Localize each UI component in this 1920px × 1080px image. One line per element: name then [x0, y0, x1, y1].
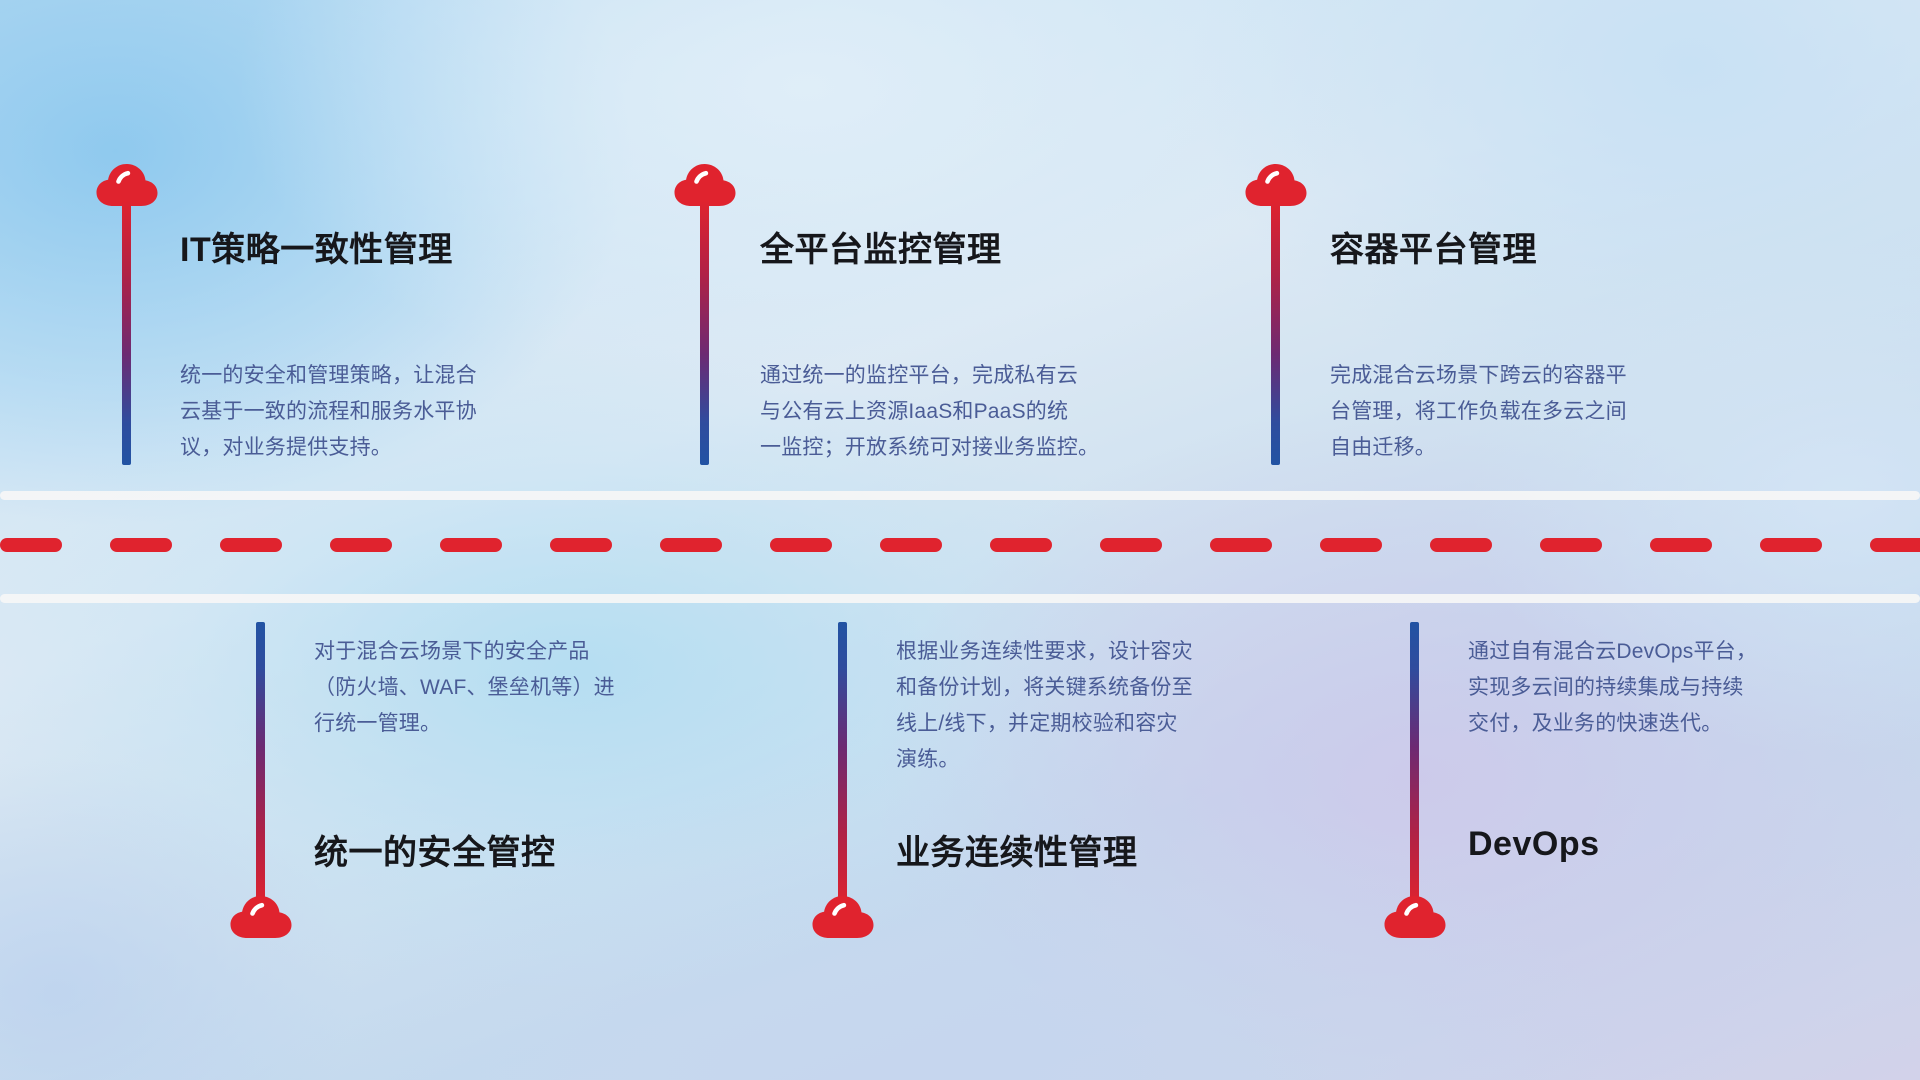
dash-segment: [660, 538, 722, 552]
connector-stem: [1410, 622, 1419, 908]
top-item-1-heading: IT策略一致性管理: [180, 222, 453, 271]
dash-segment: [1650, 538, 1712, 552]
cloud-icon: [1383, 893, 1447, 939]
top-item-2-body: 通过统一的监控平台，完成私有云 与公有云上资源IaaS和PaaS的统 一监控；开…: [760, 358, 1200, 466]
dash-segment: [330, 538, 392, 552]
connector-stem: [700, 200, 709, 465]
dash-segment: [1430, 538, 1492, 552]
dash-segment: [110, 538, 172, 552]
dash-segment: [880, 538, 942, 552]
top-item-3-heading: 容器平台管理: [1330, 222, 1537, 271]
bottom-item-2-heading: 业务连续性管理: [896, 825, 1138, 874]
bottom-item-1-body: 对于混合云场景下的安全产品 （防火墙、WAF、堡垒机等）进 行统一管理。: [314, 634, 744, 742]
connector-stem: [1271, 200, 1280, 465]
dash-segment: [1100, 538, 1162, 552]
cloud-icon: [229, 893, 293, 939]
bottom-item-3-body: 通过自有混合云DevOps平台， 实现多云间的持续集成与持续 交付，及业务的快速…: [1468, 634, 1898, 742]
top-item-2-heading: 全平台监控管理: [760, 222, 1002, 271]
dash-segment: [1320, 538, 1382, 552]
dash-segment: [550, 538, 612, 552]
dash-segment: [440, 538, 502, 552]
infographic-canvas: IT策略一致性管理 统一的安全和管理策略，让混合 云基于一致的流程和服务水平协 …: [0, 0, 1920, 1080]
bottom-item-2-body: 根据业务连续性要求，设计容灾 和备份计划，将关键系统备份至 线上/线下，并定期校…: [896, 634, 1326, 778]
connector-stem: [122, 200, 131, 465]
dash-segment: [220, 538, 282, 552]
dash-segment: [0, 538, 62, 552]
divider-line-top: [0, 491, 1920, 500]
divider-line-bottom: [0, 594, 1920, 603]
connector-stem: [838, 622, 847, 908]
dash-segment: [1540, 538, 1602, 552]
dash-segment: [990, 538, 1052, 552]
top-item-1-body: 统一的安全和管理策略，让混合 云基于一致的流程和服务水平协 议，对业务提供支持。: [180, 358, 610, 466]
dash-segment: [1210, 538, 1272, 552]
dash-segment: [1870, 538, 1920, 552]
bottom-item-1-heading: 统一的安全管控: [314, 825, 556, 874]
dash-segment: [1760, 538, 1822, 552]
cloud-icon: [811, 893, 875, 939]
dashed-separator: [0, 538, 1920, 552]
dash-segment: [770, 538, 832, 552]
connector-stem: [256, 622, 265, 908]
top-item-3-body: 完成混合云场景下跨云的容器平 台管理，将工作负载在多云之间 自由迁移。: [1330, 358, 1760, 466]
bottom-item-3-heading: DevOps: [1468, 825, 1600, 864]
